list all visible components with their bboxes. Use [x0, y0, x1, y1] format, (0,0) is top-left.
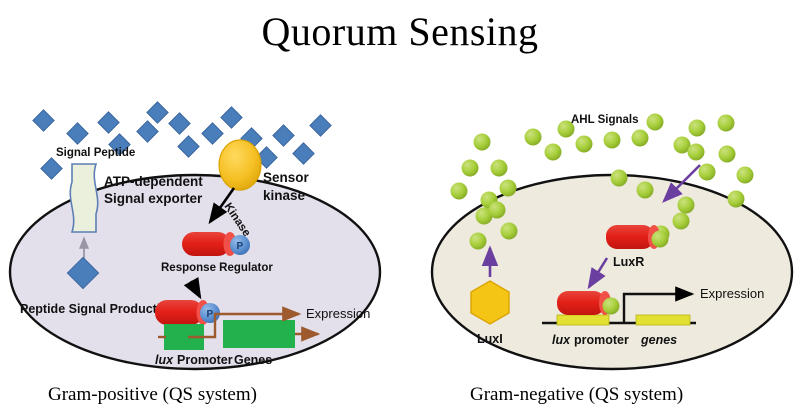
expression-label-left: Expression: [306, 306, 370, 321]
figure-root: Quorum Sensing: [0, 0, 800, 420]
genes-label-left: Genes: [234, 353, 272, 367]
lux-promoter-label-italic-right: lux: [552, 333, 571, 347]
response-regulator-free: P: [182, 232, 250, 256]
response-regulator-label: Response Regulator: [161, 262, 273, 274]
sensor-kinase-label-line1: Sensor: [263, 170, 310, 185]
genes-label-right: genes: [640, 333, 677, 347]
ahl-signals-label: AHL Signals: [571, 114, 639, 126]
lux-promoter-label-italic: lux: [155, 353, 174, 367]
genes-box: [223, 320, 295, 348]
lux-promoter-label-right: promoter: [574, 333, 629, 347]
atp-exporter-label-line2: Signal exporter: [104, 191, 203, 206]
signal-peptide-label: Signal Peptide: [56, 147, 135, 159]
atp-exporter-label-line1: ATP-dependent: [104, 174, 203, 189]
phospho-badge-label: P: [237, 241, 244, 252]
response-regulator-bound: P: [155, 300, 220, 325]
caption-gram-positive: Gram-positive (QS system): [48, 384, 257, 406]
panel-gram-positive: Signal Peptide ATP-dependent Signal expo…: [10, 102, 380, 369]
lux-promoter-bar: [557, 315, 609, 325]
atp-signal-exporter-channel: [70, 164, 97, 232]
phospho-badge-label-bound: P: [207, 309, 214, 320]
panel-gram-negative: AHL Signals LuxR: [432, 114, 792, 370]
caption-gram-negative: Gram-negative (QS system): [470, 384, 683, 406]
luxi-label: LuxI: [477, 332, 503, 346]
sensor-kinase-label-line2: kinase: [263, 188, 306, 203]
lux-promoter-label: Promoter: [177, 353, 233, 367]
diagram-canvas: Signal Peptide ATP-dependent Signal expo…: [0, 0, 800, 420]
genes-bar: [636, 315, 690, 325]
sensor-kinase-oval: [219, 140, 261, 190]
peptide-signal-production-label: Peptide Signal Production: [20, 302, 176, 316]
luxr-label: LuxR: [613, 255, 644, 269]
expression-label-right: Expression: [700, 286, 764, 301]
